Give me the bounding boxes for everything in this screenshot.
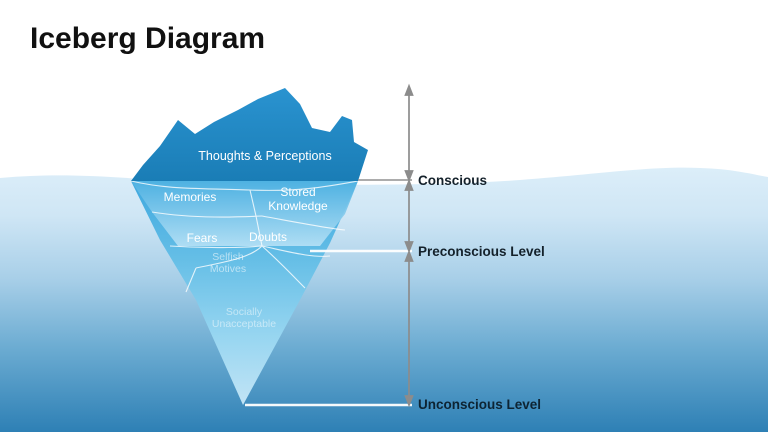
arrow-conscious-head-down bbox=[406, 171, 413, 180]
level-label-conscious: Conscious bbox=[418, 173, 487, 188]
diagram-graphics bbox=[0, 0, 768, 432]
arrow-conscious-head-up bbox=[406, 86, 413, 95]
level-label-unconscious: Unconscious Level bbox=[418, 397, 541, 412]
water-body bbox=[0, 168, 768, 432]
iceberg-diagram-canvas: Iceberg Diagram Thoughts & Perceptions M… bbox=[0, 0, 768, 432]
level-label-preconscious: Preconscious Level bbox=[418, 244, 545, 259]
arrow-preconscious-head-up bbox=[406, 181, 413, 190]
page-title: Iceberg Diagram bbox=[30, 22, 265, 56]
iceberg-above-water bbox=[131, 88, 368, 181]
